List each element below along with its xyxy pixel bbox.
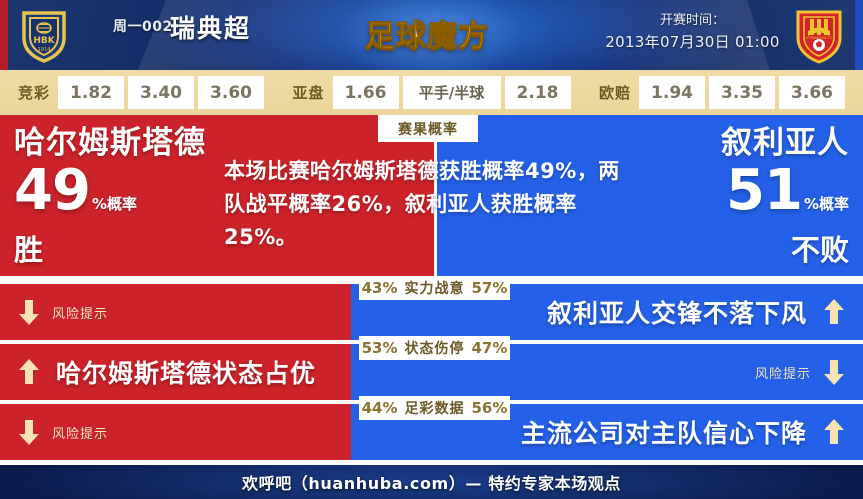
comparison-left-pct: 53% xyxy=(362,339,398,357)
brand-logo: 足球魔方 xyxy=(357,8,497,58)
odds-cell[interactable]: 1.66 xyxy=(333,76,399,109)
odds-group-title: 欧赔 xyxy=(599,82,631,103)
arrow-up-icon xyxy=(16,357,42,387)
comparison-left-pct: 44% xyxy=(362,399,398,417)
odds-cell-handicap[interactable]: 平手/半球 xyxy=(403,76,501,109)
comparison-left-text: 风险提示 xyxy=(52,303,108,322)
svg-text:HBK: HBK xyxy=(33,36,55,46)
away-probability-unit: %概率 xyxy=(804,195,849,213)
kickoff-label: 开赛时间： xyxy=(600,11,785,31)
comparison-left-home: 风险提示 xyxy=(0,404,375,460)
syrianska-crest-icon: SYRIANSKA FC xyxy=(789,5,849,65)
comparison-right-pct: 47% xyxy=(472,339,508,357)
comparison-left-text: 风险提示 xyxy=(52,423,108,442)
home-probability-value: 49 xyxy=(14,158,90,223)
main-panel: 哈尔姆斯塔德 49%概率 胜 叙利亚人 51%概率 不败 赛果概率 本场比赛哈尔… xyxy=(0,115,863,465)
comparison-right-pct: 57% xyxy=(472,279,508,297)
comparison-right-text: 叙利亚人交锋不落下风 xyxy=(547,294,807,330)
comparison-metric-name: 实力战意 xyxy=(405,278,465,298)
header-edge-blue xyxy=(855,0,863,70)
home-team-block: 哈尔姆斯塔德 49%概率 胜 xyxy=(14,123,206,268)
home-team-name: 哈尔姆斯塔德 xyxy=(14,123,206,163)
svg-text:1914: 1914 xyxy=(38,47,51,53)
odds-bar: 竞彩 1.82 3.40 3.60 亚盘 1.66 平手/半球 2.18 欧赔 … xyxy=(0,70,863,115)
comparison-left-pct: 43% xyxy=(362,279,398,297)
comparison-center-label: 44% 足彩数据 56% xyxy=(359,396,510,420)
comparison-center-label: 43% 实力战意 57% xyxy=(359,276,510,300)
brand-logo-text: 足球魔方 xyxy=(365,11,489,55)
odds-cell[interactable]: 3.66 xyxy=(779,76,845,109)
infographic-root: HBK 1914 SYRIANSKA FC 周一002 瑞典超 足球魔方 xyxy=(0,0,863,499)
footer-bar: 欢呼吧（huanhuba.com）— 特约专家本场观点 xyxy=(0,465,863,499)
odds-group-yapan: 亚盘 1.66 平手/半球 2.18 xyxy=(275,76,575,109)
comparison-left-home: 风险提示 xyxy=(0,284,375,340)
kickoff-time: 2013年07月30日 01:00 xyxy=(600,31,785,53)
summary-description: 本场比赛哈尔姆斯塔德获胜概率49%，两队战平概率26%，叙利亚人获胜概率25%。 xyxy=(224,155,624,254)
away-probability: 51%概率 xyxy=(721,163,849,232)
arrow-down-icon xyxy=(16,417,42,447)
away-team-name: 叙利亚人 xyxy=(721,123,849,163)
summary-row: 哈尔姆斯塔德 49%概率 胜 叙利亚人 51%概率 不败 赛果概率 本场比赛哈尔… xyxy=(0,115,863,280)
arrow-down-icon xyxy=(821,357,847,387)
odds-group-title: 竞彩 xyxy=(18,82,50,103)
odds-cell[interactable]: 1.94 xyxy=(639,76,705,109)
away-team-block: 叙利亚人 51%概率 不败 xyxy=(721,123,849,268)
arrow-up-icon xyxy=(821,297,847,327)
comparison-row: 风险提示 叙利亚人交锋不落下风 43% 实力战意 57% xyxy=(0,284,863,340)
comparison-row: 哈尔姆斯塔德状态占优 风险提示 53% 状态伤停 47% xyxy=(0,344,863,400)
comparison-row: 风险提示 主流公司对主队信心下降 44% 足彩数据 56% xyxy=(0,404,863,460)
home-result-label: 胜 xyxy=(14,232,206,268)
match-number: 周一002 xyxy=(113,16,173,36)
comparison-left-home: 哈尔姆斯塔德状态占优 xyxy=(0,344,375,400)
odds-cell[interactable]: 2.18 xyxy=(505,76,571,109)
odds-cell[interactable]: 3.60 xyxy=(198,76,264,109)
kickoff-block: 开赛时间： 2013年07月30日 01:00 xyxy=(600,11,785,53)
odds-cell[interactable]: 1.82 xyxy=(58,76,124,109)
league-name: 瑞典超 xyxy=(170,9,251,45)
comparison-center-label: 53% 状态伤停 47% xyxy=(359,336,510,360)
odds-cell[interactable]: 3.35 xyxy=(709,76,775,109)
comparison-metric-name: 状态伤停 xyxy=(405,338,465,358)
arrow-up-icon xyxy=(821,417,847,447)
svg-text:SYRIANSKA FC: SYRIANSKA FC xyxy=(806,36,832,40)
halmstad-crest-icon: HBK 1914 xyxy=(14,5,74,65)
arrow-down-icon xyxy=(16,297,42,327)
odds-group-jingcai: 竞彩 1.82 3.40 3.60 xyxy=(0,76,268,109)
away-result-label: 不败 xyxy=(721,232,849,268)
header-bar: HBK 1914 SYRIANSKA FC 周一002 瑞典超 足球魔方 xyxy=(0,0,863,70)
footer-text: 欢呼吧（huanhuba.com）— 特约专家本场观点 xyxy=(242,470,621,494)
odds-group-title: 亚盘 xyxy=(293,82,325,103)
comparison-metric-name: 足彩数据 xyxy=(405,398,465,418)
odds-cell[interactable]: 3.40 xyxy=(128,76,194,109)
result-probability-tab: 赛果概率 xyxy=(378,115,478,142)
home-probability-unit: %概率 xyxy=(92,195,137,213)
odds-group-oupei: 欧赔 1.94 3.35 3.66 xyxy=(581,76,849,109)
home-probability: 49%概率 xyxy=(14,163,206,232)
comparison-right-pct: 56% xyxy=(472,399,508,417)
comparison-right-text: 主流公司对主队信心下降 xyxy=(521,414,807,450)
comparison-right-text: 风险提示 xyxy=(755,363,811,382)
away-probability-value: 51 xyxy=(726,158,802,223)
comparison-left-text: 哈尔姆斯塔德状态占优 xyxy=(56,354,316,390)
header-edge-red xyxy=(0,0,8,70)
